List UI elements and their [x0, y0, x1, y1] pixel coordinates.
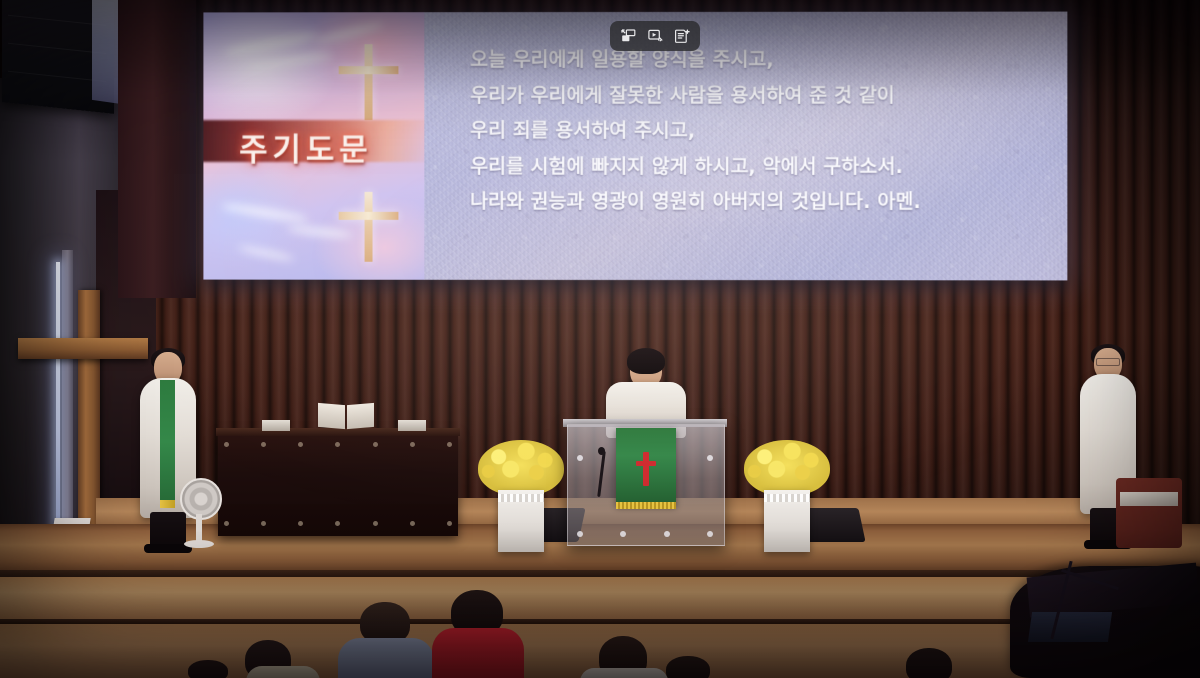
flower-arrangement-right — [744, 440, 830, 554]
livestream-frame: 주기도문 오늘 우리에게 일용할 양식을 주시고, 우리가 우리에게 잘못한 사… — [0, 0, 1200, 678]
white-book-right — [398, 420, 426, 431]
prayer-line: 나라와 권능과 영광이 영원히 아버지의 것입니다. 아멘. — [470, 192, 1039, 212]
cloud-wisp — [259, 51, 333, 69]
chrysanthemum-cluster — [478, 440, 564, 496]
slide-title-panel: 주기도문 — [203, 12, 424, 280]
cloud-wisp — [221, 201, 309, 225]
slide-title-text: 주기도문 — [239, 124, 372, 169]
wooden-chair — [1116, 478, 1182, 548]
piano-bench — [1028, 612, 1112, 642]
pulpit-stud-row — [577, 531, 713, 537]
congregant-head — [188, 660, 228, 678]
banner-gold-fringe — [616, 502, 676, 509]
open-bible — [318, 404, 374, 430]
table-stud-row — [224, 521, 452, 527]
miniplayer-icon[interactable] — [617, 26, 639, 46]
congregant-body — [432, 628, 524, 678]
left-pillar — [118, 0, 196, 298]
congregant — [660, 656, 716, 678]
cross-horizontal-beam — [18, 338, 148, 359]
congregant — [900, 648, 958, 678]
prayer-line: 오늘 우리에게 일용할 양식을 주시고, — [470, 50, 1039, 70]
slide-content-panel: 오늘 우리에게 일용할 양식을 주시고, 우리가 우리에게 잘못한 사람을 용서… — [424, 12, 1067, 281]
clergy-green-stole — [160, 380, 175, 504]
floor-fan — [180, 478, 218, 548]
save-to-playlist-icon[interactable] — [671, 26, 693, 46]
prayer-text-block: 오늘 우리에게 일용할 양식을 주시고, 우리가 우리에게 잘못한 사람을 용서… — [470, 50, 1039, 228]
congregant-head — [666, 656, 710, 678]
cloud-wisp — [315, 20, 385, 46]
video-player-toolbar[interactable] — [610, 21, 700, 51]
congregant-head — [906, 648, 952, 678]
slide-cross-upper-icon — [339, 44, 399, 120]
eyeglasses — [1096, 358, 1120, 366]
flower-arrangement-left — [478, 440, 564, 554]
congregant — [180, 660, 236, 678]
pastor-hair — [627, 348, 665, 374]
stage-platform-edge — [0, 570, 1200, 577]
clip-icon[interactable] — [644, 26, 666, 46]
cloud-wisp — [237, 244, 295, 263]
congregant-body — [580, 668, 668, 678]
prayer-line: 우리를 시험에 빠지지 않게 하시고, 악에서 구하소서. — [470, 156, 1039, 176]
flower-planter — [498, 490, 544, 552]
congregant-body — [246, 666, 320, 678]
banner-cross-icon — [636, 452, 656, 486]
fan-base — [184, 540, 214, 548]
white-book-left — [262, 420, 290, 431]
chair-cushion — [1120, 492, 1178, 506]
chrysanthemum-cluster — [744, 440, 830, 496]
prayer-line: 우리 죄를 용서하여 주시고, — [470, 121, 1039, 141]
pulpit-banner — [616, 428, 676, 506]
slide-cross-lower-icon — [339, 192, 399, 262]
congregant-body — [338, 638, 434, 678]
flower-planter — [764, 490, 810, 552]
table-stud-row — [224, 442, 452, 448]
stole-gold-fringe — [160, 500, 175, 508]
projection-screen: 주기도문 오늘 우리에게 일용할 양식을 주시고, 우리가 우리에게 잘못한 사… — [203, 12, 1067, 281]
prayer-line: 우리가 우리에게 잘못한 사람을 용서하여 준 것 같이 — [470, 85, 1039, 105]
